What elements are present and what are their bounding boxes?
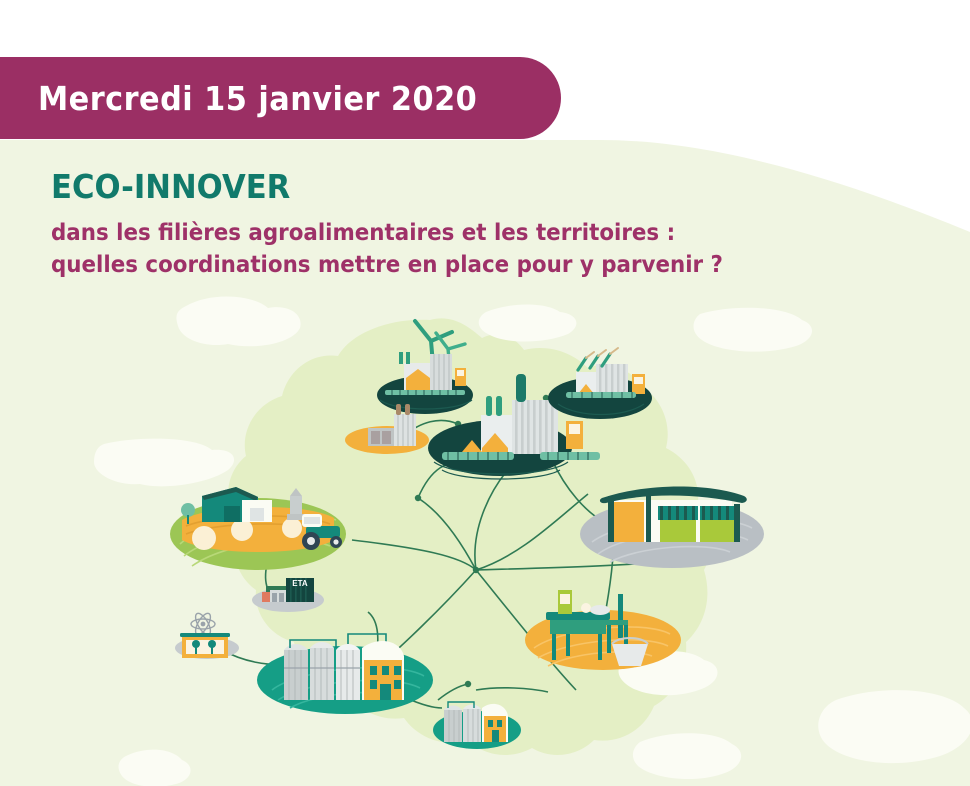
poster-root: ETA — [0, 0, 970, 786]
subtitle-line-2: quelles coordinations mettre en place po… — [51, 249, 723, 281]
cloud-icon — [633, 733, 741, 779]
storefront-icon — [600, 487, 747, 543]
date-banner-label: Mercredi 15 janvier 2020 — [38, 79, 477, 118]
page-title: ECO-INNOVER — [51, 170, 723, 205]
lab-building-icon — [180, 633, 230, 658]
silos-icon — [284, 642, 360, 700]
subtitle-line-1: dans les filières agroalimentaires et le… — [51, 217, 723, 249]
date-banner: Mercredi 15 janvier 2020 — [0, 57, 561, 139]
cloud-icon — [818, 690, 970, 763]
cloud-icon — [119, 750, 191, 786]
cloud-icon — [94, 439, 234, 487]
cloud-icon — [479, 305, 577, 342]
title-block: ECO-INNOVER dans les filières agroalimen… — [51, 170, 774, 281]
eta-label: ETA — [292, 579, 308, 588]
cloud-icon — [176, 296, 300, 346]
cloud-icon — [694, 308, 813, 352]
node-research-lab[interactable] — [175, 611, 239, 659]
small-silos-icon — [444, 702, 508, 742]
office-building-icon — [362, 641, 404, 700]
